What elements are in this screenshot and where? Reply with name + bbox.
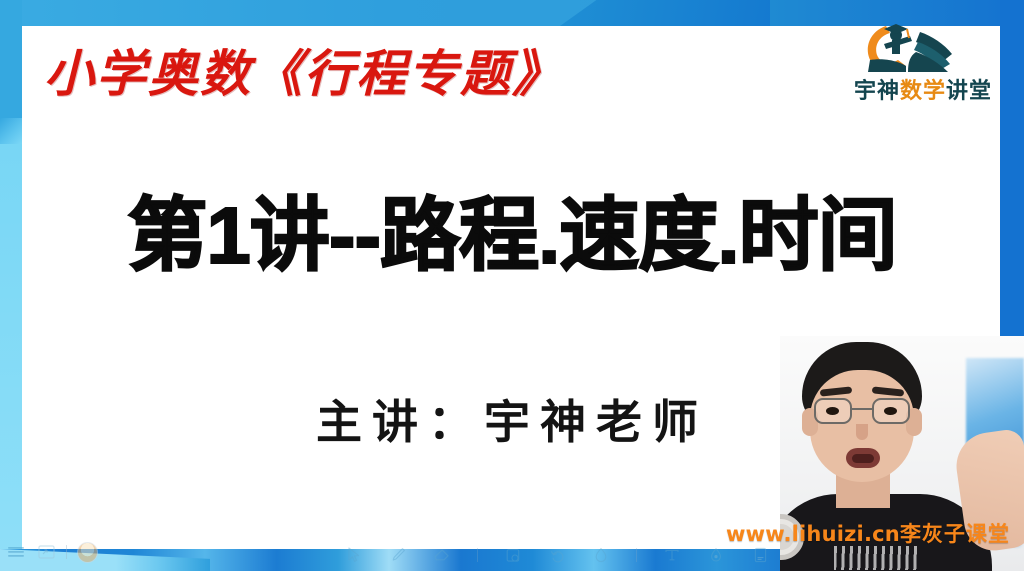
presenter-mouth-inner bbox=[852, 454, 874, 463]
text-icon[interactable] bbox=[663, 546, 681, 564]
graduate-reading-book-icon bbox=[848, 14, 998, 80]
logo-word-part-1: 宇神 bbox=[854, 78, 900, 103]
page-icon[interactable] bbox=[751, 546, 769, 564]
pen-icon[interactable] bbox=[389, 546, 407, 564]
logo-word-part-3: 讲堂 bbox=[946, 78, 992, 103]
toolbar-divider bbox=[477, 548, 478, 562]
cursor-arrow-icon[interactable] bbox=[345, 546, 363, 564]
logo-word-part-2: 数学 bbox=[900, 78, 946, 103]
course-title: 小学奥数《行程专题》 bbox=[44, 34, 564, 106]
presenter-glasses-bridge bbox=[852, 408, 872, 410]
eraser-icon[interactable] bbox=[433, 546, 451, 564]
undo-icon[interactable] bbox=[548, 546, 566, 564]
screen-share-icon[interactable] bbox=[36, 543, 56, 561]
left-strip-notch bbox=[0, 118, 22, 144]
shape-icon[interactable] bbox=[504, 546, 522, 564]
toolbar-left[interactable] bbox=[0, 539, 98, 565]
color-picker-icon[interactable] bbox=[707, 546, 725, 564]
user-avatar-icon[interactable] bbox=[77, 542, 98, 563]
presenter-nose bbox=[856, 424, 868, 440]
toolbar-divider bbox=[636, 548, 637, 562]
presenter-eye-right bbox=[884, 407, 897, 415]
brand-logo: 宇神数学讲堂 bbox=[848, 14, 998, 114]
logo-wordmark: 宇神数学讲堂 bbox=[850, 76, 996, 106]
presenter-shirt-print bbox=[834, 546, 918, 570]
laser-pointer-icon[interactable] bbox=[592, 546, 610, 564]
lesson-headline: 第1讲--路程.速度.时间 bbox=[0, 196, 1024, 276]
toolbar-center[interactable] bbox=[345, 543, 769, 567]
toolbar-divider bbox=[66, 545, 67, 559]
lesson-slide-screenshot: 小学奥数《行程专题》 宇神数学讲堂 第1讲--路程.速度.时间 主讲：宇神老师 bbox=[0, 0, 1024, 571]
menu-icon[interactable] bbox=[6, 543, 26, 561]
top-band-facet-1 bbox=[0, 0, 640, 26]
left-blue-strip bbox=[0, 0, 22, 571]
watermark-brand: 李灰子课堂 bbox=[900, 522, 1010, 546]
presenter-eye-left bbox=[826, 407, 839, 415]
